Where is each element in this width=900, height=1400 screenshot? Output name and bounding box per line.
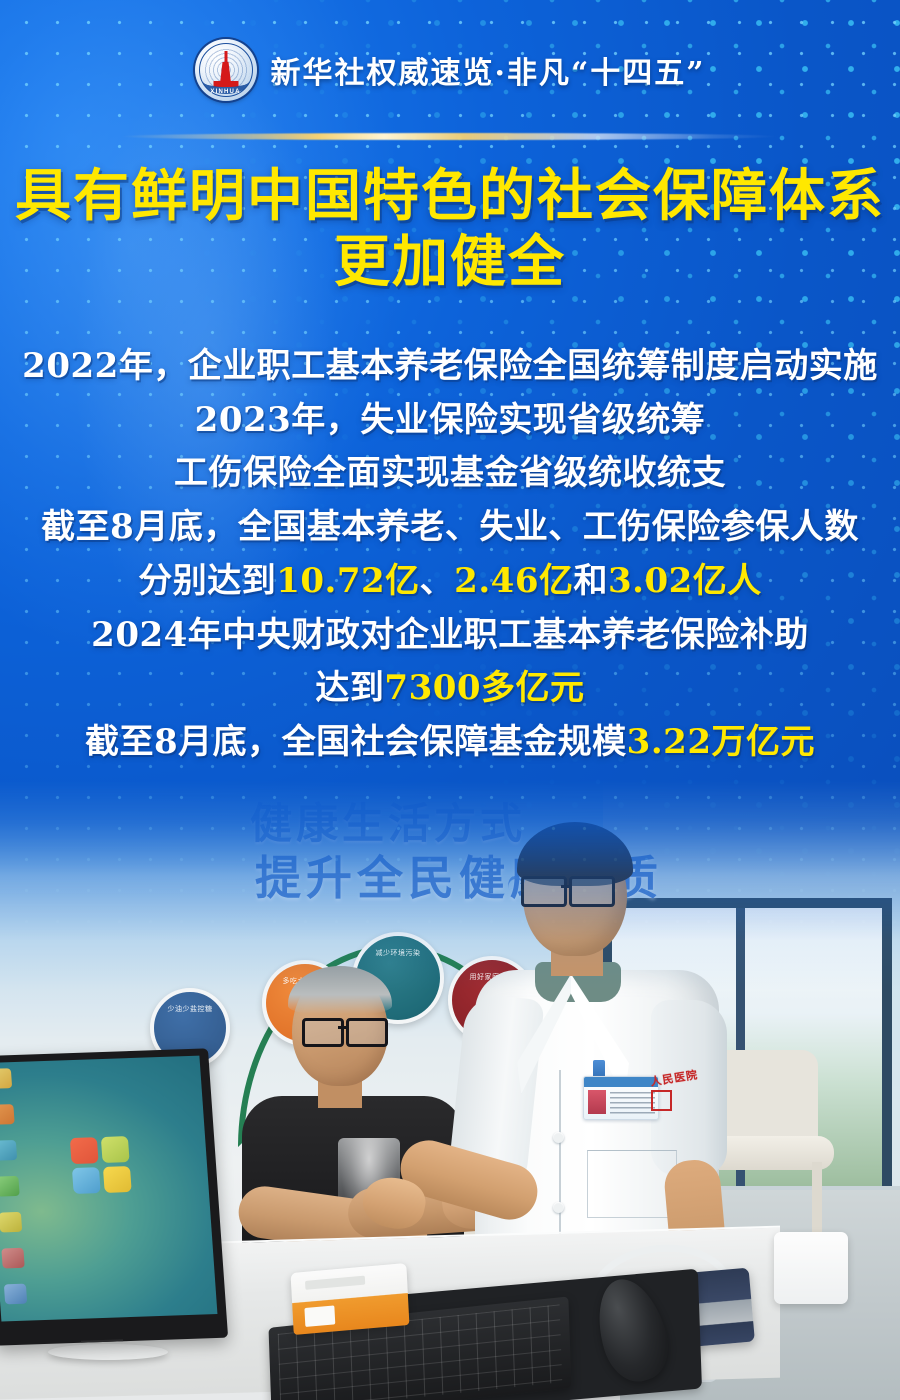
desktop-icon [0,1212,22,1233]
desktop-icons [0,1068,40,1321]
blood-pressure-monitor [774,1232,848,1304]
stat-line-8: 截至8月底，全国社会保障基金规模3.22万亿元 [0,716,900,770]
stat-line-1: 2022年，企业职工基本养老保险全国统筹制度启动实施 [0,340,900,394]
page-title: 具有鲜明中国特色的社会保障体系 更加健全 [0,163,900,295]
monitor-base [48,1344,168,1360]
desktop-icon [0,1140,17,1161]
stat-value-injury-enrollment: 3.02亿人 [608,561,762,601]
header-title: 新华社权威速览·非凡“十四五” [271,48,706,92]
stat-line-8-prefix: 截至8月底，全国社会保障基金规模 [85,722,627,762]
stat-value-unemployment-enrollment: 2.46亿 [454,561,573,601]
insurance-card [304,1305,335,1327]
glasses-bridge [561,885,571,888]
xinhua-logo-icon: XINHUA [195,39,257,101]
stat-line-5-separator-2: 和 [573,561,608,601]
poster-header: XINHUA 新华社权威速览·非凡“十四五” [0,0,900,140]
patient-glasses-icon [302,1018,394,1042]
desktop-icon [0,1068,12,1089]
windows-pane-bottom-left [72,1167,101,1194]
header-divider-streak [120,133,780,140]
stat-line-5-prefix: 分别达到 [138,561,276,601]
card-reader-slot [305,1276,365,1290]
glasses-lens-right [346,1018,388,1047]
stat-line-7-prefix: 达到 [315,668,384,708]
stat-line-5: 分别达到10.72亿、2.46亿和3.02亿人 [0,555,900,609]
windows-pane-top-right [101,1136,130,1163]
glasses-lens-right [569,876,615,907]
stat-value-pension-enrollment: 10.72亿 [276,561,419,601]
card-reader-device [291,1263,410,1335]
doctor-glasses-icon [519,876,623,902]
glasses-lens-left [521,876,567,907]
stat-value-central-subsidy: 7300多亿元 [384,668,584,708]
desktop-icon [4,1284,27,1305]
stat-line-3: 工伤保险全面实现基金省级统收统支 [0,447,900,501]
stat-line-5-separator-1: 、 [420,561,455,601]
doctor-chest-pocket [587,1150,677,1218]
stat-value-ssf-scale: 3.22万亿元 [627,722,815,762]
badge-text-lines [610,1092,655,1114]
windows-pane-top-left [70,1137,99,1164]
stat-line-2: 2023年，失业保险实现省级统筹 [0,394,900,448]
hospital-logo-mark [651,1090,672,1111]
doctor-id-badge [583,1076,659,1120]
stat-line-7: 达到7300多亿元 [0,662,900,716]
windows-pane-bottom-right [103,1166,132,1193]
doctor-coat-button [553,1132,564,1143]
infographic-poster: XINHUA 新华社权威速览·非凡“十四五” 具有鲜明中国特色的社会保障体系 更… [0,0,900,1400]
wall-circle-blue-label: 少油少盐控糖 [154,1004,226,1014]
patient-hair [288,966,392,1014]
computer-monitor [0,1048,228,1345]
doctor-coat-button [553,1202,564,1213]
statistics-block: 2022年，企业职工基本养老保险全国统筹制度启动实施 2023年，失业保险实现省… [0,340,900,770]
stat-line-6: 2024年中央财政对企业职工基本养老保险补助 [0,609,900,663]
badge-header-bar [584,1077,658,1087]
desktop-icon [0,1104,15,1125]
wall-circle-teal-label: 减少环境污染 [356,948,440,958]
clinic-photograph: 健康生活方式 提升全民健康素质 少油少盐控糖 多吃水果蔬菜 减少环境污染 用好家… [0,780,900,1400]
logo-arc-text: XINHUA [195,89,257,95]
glasses-bridge [338,1026,346,1029]
glasses-lens-left [302,1018,344,1047]
headline-line-1: 具有鲜明中国特色的社会保障体系 [0,163,900,229]
windows-logo-icon [70,1136,136,1196]
desktop-icon [0,1176,20,1197]
monitor-screen [0,1056,217,1322]
stat-line-4: 截至8月底，全国基本养老、失业、工伤保险参保人数 [0,501,900,555]
desktop-icon [1,1248,24,1269]
badge-photo [588,1090,606,1114]
headline-line-2: 更加健全 [0,229,900,295]
